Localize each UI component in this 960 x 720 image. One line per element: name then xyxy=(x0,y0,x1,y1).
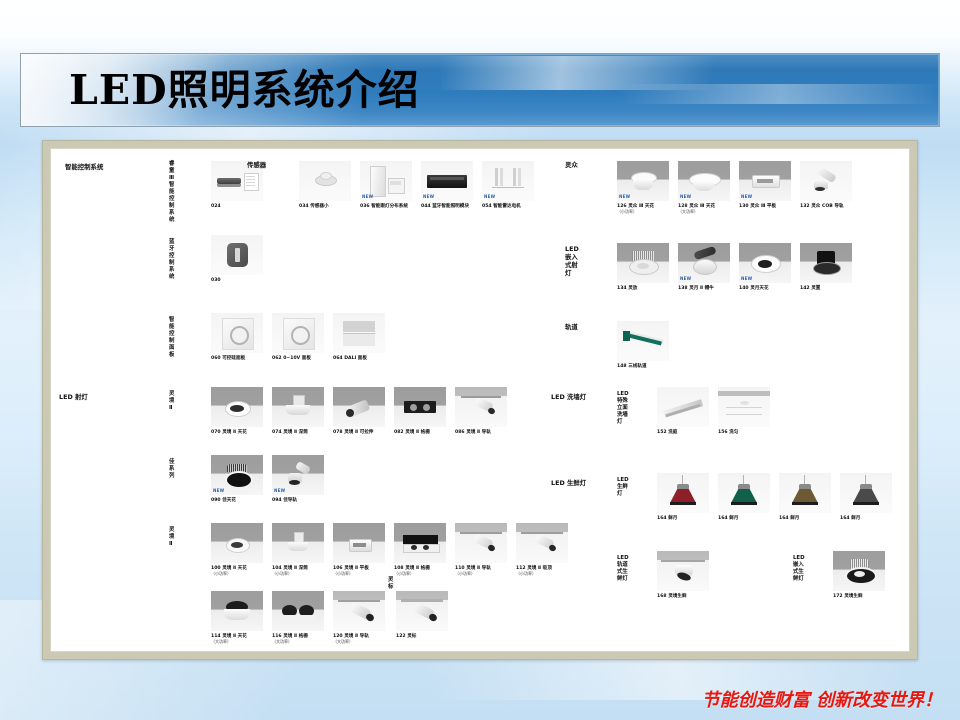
product-item[interactable]: NEW 140 灵月天花 xyxy=(739,243,791,291)
product-item[interactable]: 062 0~10V 面板 xyxy=(272,313,324,361)
product-caption: 082 灵境 Ⅱ 格栅 xyxy=(394,430,446,436)
product-thumbnail-148 xyxy=(617,321,669,361)
product-caption: 122 灵标 xyxy=(396,634,448,640)
subgroup-label: 蓝牙 控制系统 xyxy=(169,239,174,281)
row-lingjing2-high: 114 灵境 Ⅱ 天花（大功率） 116 灵境 Ⅱ 格栅（大功率） xyxy=(211,591,394,646)
product-caption: 078 灵境 Ⅱ 可拉伸 xyxy=(333,430,385,436)
product-item[interactable]: 148 三线轨道 xyxy=(617,321,669,369)
product-caption: 070 灵境 Ⅱ 天花 xyxy=(211,430,263,436)
row-sensors: 034 传感器小 NEW 036 智能跟灯分布系统 xyxy=(299,161,543,209)
subgroup-label: LED 轨道式生鲜灯 xyxy=(617,555,629,583)
row-jia-series: NEW 090 佳天花 NEW 094 佳导轨 xyxy=(211,455,333,503)
catalog-panel: 智能控制系统 睿童 Ⅲ 智能控制系统 024 xyxy=(50,148,910,652)
product-caption: 062 0~10V 面板 xyxy=(272,356,324,362)
row-track-fresh-light: 168 灵境生鲜 xyxy=(657,551,718,599)
product-caption: 100 灵境 Ⅱ 天花（小功率） xyxy=(211,566,263,578)
badge-new: NEW xyxy=(213,488,224,493)
product-thumbnail-108 xyxy=(394,523,446,563)
footer-slogan: 节能创造财富 创新改变世界！ xyxy=(702,686,942,712)
category-label: LED 嵌入式射灯 xyxy=(565,245,579,277)
subgroup-label: LED 嵌入式生鲜灯 xyxy=(793,555,805,583)
row-lingzhong: NEW 126 灵众 Ⅲ 天花（小功率） NEW 128 灵众 Ⅲ 天花（大功率… xyxy=(617,161,861,216)
subgroup-label: 睿童 Ⅲ 智能控制系统 xyxy=(169,161,174,224)
product-caption: 086 灵境 Ⅱ 导轨 xyxy=(455,430,507,436)
product-item[interactable]: 116 灵境 Ⅱ 格栅（大功率） xyxy=(272,591,324,646)
product-item[interactable]: 070 灵境 Ⅱ 天花 xyxy=(211,387,263,435)
product-thumbnail-152 xyxy=(657,387,709,427)
category-label: 传感器 xyxy=(247,161,266,169)
product-caption: 036 智能跟灯分布系统 xyxy=(360,204,412,210)
product-item[interactable]: NEW 126 灵众 Ⅲ 天花（小功率） xyxy=(617,161,669,216)
product-item[interactable]: 074 灵境 Ⅱ 深筒 xyxy=(272,387,324,435)
badge-new: NEW xyxy=(362,194,373,199)
product-thumbnail-094: NEW xyxy=(272,455,324,495)
product-item[interactable]: 164 鲜月 xyxy=(657,473,709,521)
product-thumbnail-120 xyxy=(333,591,385,631)
category-label: LED 射灯 xyxy=(59,393,88,401)
product-thumbnail-156 xyxy=(718,387,770,427)
product-caption: 142 灵置 xyxy=(800,286,852,292)
product-thumbnail-134 xyxy=(617,243,669,283)
product-item[interactable]: 100 灵境 Ⅱ 天花（小功率） xyxy=(211,523,263,578)
product-thumbnail-110 xyxy=(455,523,507,563)
row-track: 148 三线轨道 xyxy=(617,321,678,369)
product-caption: 094 佳导轨 xyxy=(272,498,324,504)
subgroup-label: 灵境 Ⅱ xyxy=(169,391,174,412)
product-item[interactable]: 114 灵境 Ⅱ 天花（大功率） xyxy=(211,591,263,646)
category-label: 灵众 xyxy=(565,161,578,169)
subgroup-label: 佳系列 xyxy=(169,459,174,480)
badge-new: NEW xyxy=(484,194,495,199)
product-item[interactable]: 060 可控硅面板 xyxy=(211,313,263,361)
product-item[interactable]: NEW 090 佳天花 xyxy=(211,455,263,503)
product-thumbnail-122 xyxy=(396,591,448,631)
product-thumbnail-082 xyxy=(394,387,446,427)
product-item[interactable]: 082 灵境 Ⅱ 格栅 xyxy=(394,387,446,435)
product-thumbnail-138: NEW xyxy=(678,243,730,283)
product-caption: 120 灵境 Ⅱ 导轨（大功率） xyxy=(333,634,385,646)
product-thumbnail-104 xyxy=(272,523,324,563)
product-thumbnail-044: NEW xyxy=(421,161,473,201)
product-caption: 044 蓝牙智能照明模块 xyxy=(421,204,473,210)
badge-new: NEW xyxy=(274,488,285,493)
row-lingbiao: 122 灵标 xyxy=(396,591,457,639)
subgroup-label: 智能控制面板 xyxy=(169,317,174,359)
product-thumbnail-142 xyxy=(800,243,852,283)
category-label: 轨道 xyxy=(565,323,578,331)
product-item[interactable]: NEW 138 灵月 Ⅱ 帽牛 xyxy=(678,243,730,291)
product-thumbnail-140: NEW xyxy=(739,243,791,283)
product-item[interactable]: 172 灵境生鲜 xyxy=(833,551,885,599)
product-thumbnail-100 xyxy=(211,523,263,563)
product-item[interactable]: 164 鲜月 xyxy=(779,473,831,521)
category-label: 智能控制系统 xyxy=(65,163,103,171)
row-wall-washer: 152 洗庭 156 洗匀 xyxy=(657,387,779,435)
product-thumbnail-172 xyxy=(833,551,885,591)
product-item[interactable]: 156 洗匀 xyxy=(718,387,770,435)
product-thumbnail-128: NEW xyxy=(678,161,730,201)
product-caption: 090 佳天花 xyxy=(211,498,263,504)
subgroup-label: LED 特殊立面洗墙灯 xyxy=(617,391,629,426)
row-lingjing2: 070 灵境 Ⅱ 天花 074 灵境 Ⅱ 深筒 xyxy=(211,387,516,435)
product-thumbnail-132 xyxy=(800,161,852,201)
product-caption: 132 灵众 COB 导轨 xyxy=(800,204,852,210)
row-recessed-fresh-light: 172 灵境生鲜 xyxy=(833,551,894,599)
product-item[interactable]: 034 传感器小 xyxy=(299,161,351,209)
product-item[interactable]: NEW 130 灵众 Ⅲ 平板 xyxy=(739,161,791,216)
product-thumbnail-036: NEW xyxy=(360,161,412,201)
product-caption: 172 灵境生鲜 xyxy=(833,594,885,600)
product-caption: 054 智能雷达电机 xyxy=(482,204,534,210)
badge-new: NEW xyxy=(423,194,434,199)
product-item[interactable]: 086 灵境 Ⅱ 导轨 xyxy=(455,387,507,435)
product-caption: 164 鲜月 xyxy=(657,516,709,522)
product-thumbnail-078 xyxy=(333,387,385,427)
product-item[interactable]: 110 灵境 Ⅱ 导轨（小功率） xyxy=(455,523,507,578)
banner-cloud-streak-right xyxy=(621,84,940,104)
product-caption: 168 灵境生鲜 xyxy=(657,594,709,600)
product-thumbnail-060 xyxy=(211,313,263,353)
product-caption: 152 洗庭 xyxy=(657,430,709,436)
product-caption: 156 洗匀 xyxy=(718,430,770,436)
subgroup-label: LED 生鲜灯 xyxy=(617,477,629,498)
badge-new: NEW xyxy=(680,194,691,199)
product-thumbnail-054: NEW xyxy=(482,161,534,201)
product-thumbnail-126: NEW xyxy=(617,161,669,201)
row-control-panels: 060 可控硅面板 062 0~10V 面板 0 xyxy=(211,313,394,361)
product-caption: 108 灵境 Ⅱ 格栅（小功率） xyxy=(394,566,446,578)
product-thumbnail-164-red xyxy=(657,473,709,513)
product-caption: 148 三线轨道 xyxy=(617,364,669,370)
product-item[interactable]: 108 灵境 Ⅱ 格栅（小功率） xyxy=(394,523,446,578)
product-thumbnail-070 xyxy=(211,387,263,427)
product-thumbnail-164-green xyxy=(718,473,770,513)
subgroup-label: 灵标 xyxy=(388,577,393,591)
product-thumbnail-164-grey xyxy=(840,473,892,513)
row-lingjing2-low: 100 灵境 Ⅱ 天花（小功率） 104 灵境 Ⅱ 深筒（小功率） xyxy=(211,523,577,578)
product-item[interactable]: NEW 036 智能跟灯分布系统 xyxy=(360,161,412,209)
product-thumbnail-030 xyxy=(211,235,263,275)
product-caption: 134 灵放 xyxy=(617,286,669,292)
product-thumbnail-164-gold xyxy=(779,473,831,513)
product-caption: 106 灵境 Ⅱ 平板（小功率） xyxy=(333,566,385,578)
product-caption: 130 灵众 Ⅲ 平板 xyxy=(739,204,791,210)
catalog-panel-frame: 智能控制系统 睿童 Ⅲ 智能控制系统 024 xyxy=(42,140,918,660)
product-thumbnail-130: NEW xyxy=(739,161,791,201)
product-caption: 074 灵境 Ⅱ 深筒 xyxy=(272,430,324,436)
badge-new: NEW xyxy=(680,276,691,281)
category-label: LED 生鲜灯 xyxy=(551,479,586,487)
badge-new: NEW xyxy=(619,194,630,199)
product-thumbnail-086 xyxy=(455,387,507,427)
row-led-recessed-spotlight: 134 灵放 NEW 138 灵月 Ⅱ 帽牛 xyxy=(617,243,861,291)
catalog-left-column: 智能控制系统 睿童 Ⅲ 智能控制系统 024 xyxy=(51,149,551,652)
product-item[interactable]: 104 灵境 Ⅱ 深筒（小功率） xyxy=(272,523,324,578)
product-item[interactable]: 134 灵放 xyxy=(617,243,669,291)
product-item[interactable]: 120 灵境 Ⅱ 导轨（大功率） xyxy=(333,591,385,646)
product-thumbnail-064 xyxy=(333,313,385,353)
product-caption: 164 鲜月 xyxy=(840,516,892,522)
product-item[interactable]: 106 灵境 Ⅱ 平板（小功率） xyxy=(333,523,385,578)
product-thumbnail-062 xyxy=(272,313,324,353)
catalog-content: 智能控制系统 睿童 Ⅲ 智能控制系统 024 xyxy=(51,149,910,652)
banner-cloud-streak-center xyxy=(441,56,741,90)
product-thumbnail-090: NEW xyxy=(211,455,263,495)
product-thumbnail-106 xyxy=(333,523,385,563)
product-item[interactable]: 064 DALI 面板 xyxy=(333,313,385,361)
product-caption: 128 灵众 Ⅲ 天花（大功率） xyxy=(678,204,730,216)
product-item[interactable]: 152 洗庭 xyxy=(657,387,709,435)
product-caption: 030 xyxy=(211,278,263,284)
product-caption: 138 灵月 Ⅱ 帽牛 xyxy=(678,286,730,292)
product-caption: 140 灵月天花 xyxy=(739,286,791,292)
row-bluetooth: 030 xyxy=(211,235,272,283)
product-thumbnail-116 xyxy=(272,591,324,631)
product-thumbnail-168 xyxy=(657,551,709,591)
product-item[interactable]: 030 xyxy=(211,235,263,283)
product-item[interactable]: 164 鲜月 xyxy=(718,473,770,521)
product-item[interactable]: NEW 094 佳导轨 xyxy=(272,455,324,503)
product-thumbnail-034 xyxy=(299,161,351,201)
product-caption: 164 鲜月 xyxy=(779,516,831,522)
product-caption: 064 DALI 面板 xyxy=(333,356,385,362)
product-caption: 164 鲜月 xyxy=(718,516,770,522)
badge-new: NEW xyxy=(741,276,752,281)
product-item[interactable]: 164 鲜月 xyxy=(840,473,892,521)
product-item[interactable]: 168 灵境生鲜 xyxy=(657,551,709,599)
product-thumbnail-074 xyxy=(272,387,324,427)
product-caption: 110 灵境 Ⅱ 导轨（小功率） xyxy=(455,566,507,578)
product-caption: 114 灵境 Ⅱ 天花（大功率） xyxy=(211,634,263,646)
subgroup-label: 灵境 Ⅱ xyxy=(169,527,174,548)
product-caption: 034 传感器小 xyxy=(299,204,351,210)
product-item[interactable]: NEW 128 灵众 Ⅲ 天花（大功率） xyxy=(678,161,730,216)
page-title: LED照明系统介绍 xyxy=(69,58,420,122)
product-thumbnail-114 xyxy=(211,591,263,631)
badge-new: NEW xyxy=(741,194,752,199)
title-banner: LED照明系统介绍 xyxy=(20,53,940,127)
product-item[interactable]: 132 灵众 COB 导轨 xyxy=(800,161,852,216)
product-caption: 104 灵境 Ⅱ 深筒（小功率） xyxy=(272,566,324,578)
product-caption: 126 灵众 Ⅲ 天花（小功率） xyxy=(617,204,669,216)
product-caption: 024 xyxy=(211,204,263,210)
product-caption: 060 可控硅面板 xyxy=(211,356,263,362)
product-caption: 116 灵境 Ⅱ 格栅（大功率） xyxy=(272,634,324,646)
row-fresh-food: 164 鲜月 164 鲜月 xyxy=(657,473,901,521)
product-item[interactable]: 078 灵境 Ⅱ 可拉伸 xyxy=(333,387,385,435)
category-label: LED 洗墙灯 xyxy=(551,393,586,401)
product-item[interactable]: NEW 054 智能雷达电机 xyxy=(482,161,534,209)
product-item[interactable]: NEW 044 蓝牙智能照明模块 xyxy=(421,161,473,209)
product-item[interactable]: 142 灵置 xyxy=(800,243,852,291)
product-item[interactable]: 122 灵标 xyxy=(396,591,448,639)
catalog-right-column: 灵众 NEW 126 灵众 Ⅲ 天花（小功率） xyxy=(551,149,910,652)
